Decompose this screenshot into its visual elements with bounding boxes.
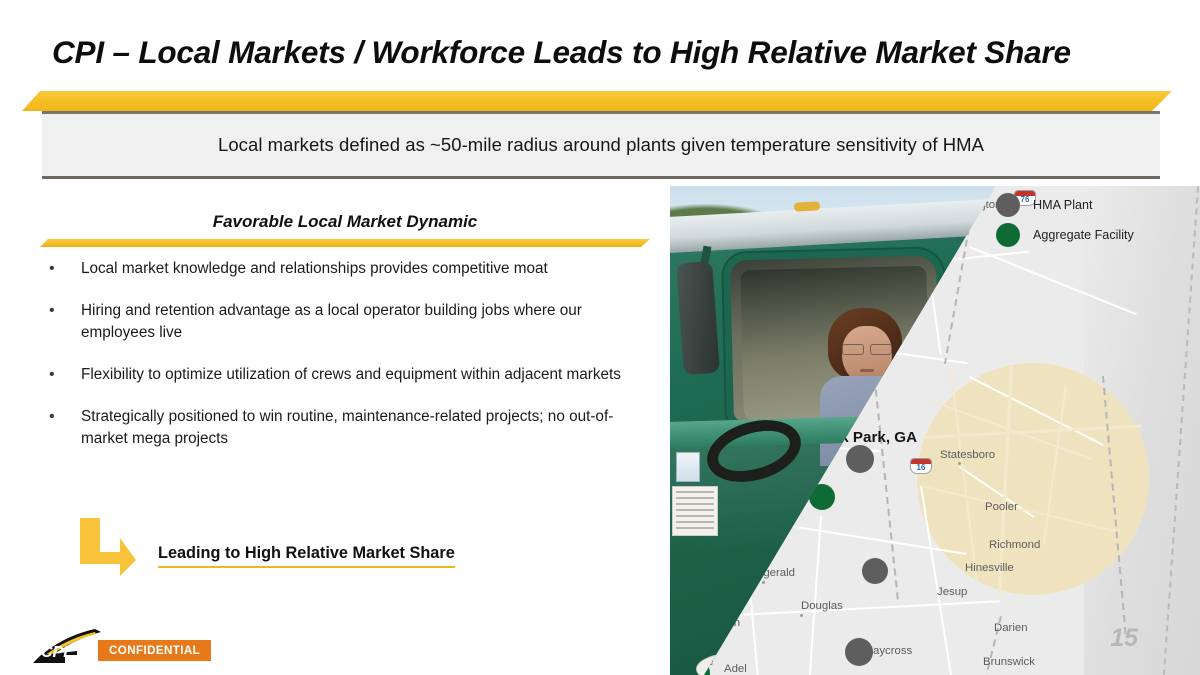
bullet-dot-icon: • [49,260,55,278]
map-city-label: Jesup [937,586,967,598]
bullet-dot-icon: • [49,408,55,426]
map-city-dot [800,614,803,617]
status-badge: CONFIDENTIAL [98,640,211,661]
map-city-dot [958,462,961,465]
list-item-text: Local market knowledge and relationships… [81,260,548,277]
map-marker-hma-plant[interactable] [845,638,873,666]
list-item: • Hiring and retention advantage as a lo… [40,300,640,344]
page-title: CPI – Local Markets / Workforce Leads to… [52,34,1152,71]
legend-item-aggregate-facility: Aggregate Facility [996,220,1134,250]
map-city-label: Adel [724,663,747,675]
fifty-mile-radius-circle [917,363,1149,595]
photo-driver-mouth [860,369,874,372]
list-item-text: Flexibility to optimize utilization of c… [81,366,621,383]
map-city-label: Richmond [989,539,1040,551]
list-item-text: Hiring and retention advantage as a loca… [81,302,582,341]
subtitle-bottom-rule [42,176,1160,179]
photo-door-placard [672,486,718,536]
slide-root: CPI – Local Markets / Workforce Leads to… [0,0,1200,675]
map-city-label: aycross [873,645,912,657]
list-item: • Strategically positioned to win routin… [40,406,640,450]
map-city-label: Brunswick [983,656,1035,668]
map-city-label: Pooler [985,501,1018,513]
subtitle-banner: Local markets defined as ~50-mile radius… [42,114,1160,176]
map-city-label: Darien [994,622,1028,634]
legend-label: HMA Plant [1033,198,1093,212]
svg-text:CPI: CPI [41,644,68,661]
photo-marker-lamp [794,201,820,211]
green-circle-icon [996,223,1020,247]
gray-circle-icon [996,193,1020,217]
map-marker-hma-plant[interactable] [846,445,874,473]
legend-item-hma-plant: HMA Plant [996,190,1134,220]
bullet-dot-icon: • [49,302,55,320]
map-marker-hma-plant[interactable] [862,558,888,584]
map-legend: HMA Plant Aggregate Facility [996,190,1134,250]
photo-door-permit-sticker [676,452,700,482]
photo-side-mirror [676,261,720,375]
map-city-label: Douglas [801,600,843,612]
bullet-dot-icon: • [49,366,55,384]
list-item: • Flexibility to optimize utilization of… [40,364,640,386]
map-city-label: Statesboro [940,449,995,461]
cpi-road-logo-icon: CPI [33,625,105,665]
title-accent-ribbon [22,91,1172,111]
bullet-list: • Local market knowledge and relationshi… [40,258,640,450]
map-city-dot [762,581,765,584]
list-item-text: Strategically positioned to win routine,… [81,408,613,447]
legend-label: Aggregate Facility [1033,228,1134,242]
interstate-shield-icon: 16 [910,458,932,474]
photo-driver-glasses [842,344,892,353]
map-watermark: 15 [1110,624,1138,653]
conclusion-text: Leading to High Relative Market Share [158,544,455,568]
map-photo-panel: 20 16 76 Evans Aiken Martinez Augusta jt… [670,186,1200,675]
bent-arrow-down-right-icon [80,518,136,576]
left-heading-accent-ribbon [40,239,650,247]
subtitle-banner-text: Local markets defined as ~50-mile radius… [218,134,984,156]
list-item: • Local market knowledge and relationshi… [40,258,640,280]
map-city-label: Hinesville [965,562,1014,574]
left-column-heading: Favorable Local Market Dynamic [40,212,650,232]
